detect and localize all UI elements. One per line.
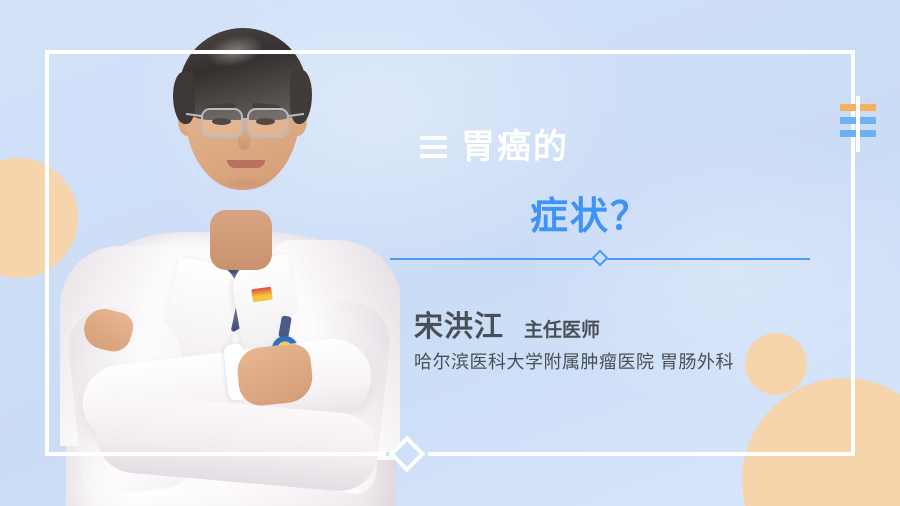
title-line-1-row: 胃癌的 [420,130,569,164]
eyeglasses-bridge [242,118,249,120]
eyeglasses-lens-right [247,108,289,138]
mouth [227,160,265,168]
divider [390,252,810,266]
doctor-title: 主任医师 [524,315,600,342]
thumbnail-canvas: 胃癌的 症状？ 宋洪江 主任医师 哈尔滨医科大学附属肿瘤医院 胃肠外科 [0,0,900,506]
divider-diamond-icon [592,250,609,267]
doctor-identity: 宋洪江 主任医师 [414,303,600,345]
doctor-name: 宋洪江 [414,303,504,345]
red-badge-pin [251,287,273,303]
text-content: 胃癌的 症状？ 宋洪江 主任医师 哈尔滨医科大学附属肿瘤医院 胃肠外科 [380,0,880,506]
neck [210,210,272,270]
hamburger-icon [420,136,447,158]
doctor-portrait [60,0,400,506]
hair-side-left [173,72,195,124]
eyeglasses-lens-left [201,108,243,138]
title-line-1: 胃癌的 [461,130,569,164]
title-line-2: 症状？ [530,198,650,236]
doctor-hospital: 哈尔滨医科大学附属肿瘤医院 胃肠外科 [414,348,734,374]
chin-shadow [216,176,274,190]
